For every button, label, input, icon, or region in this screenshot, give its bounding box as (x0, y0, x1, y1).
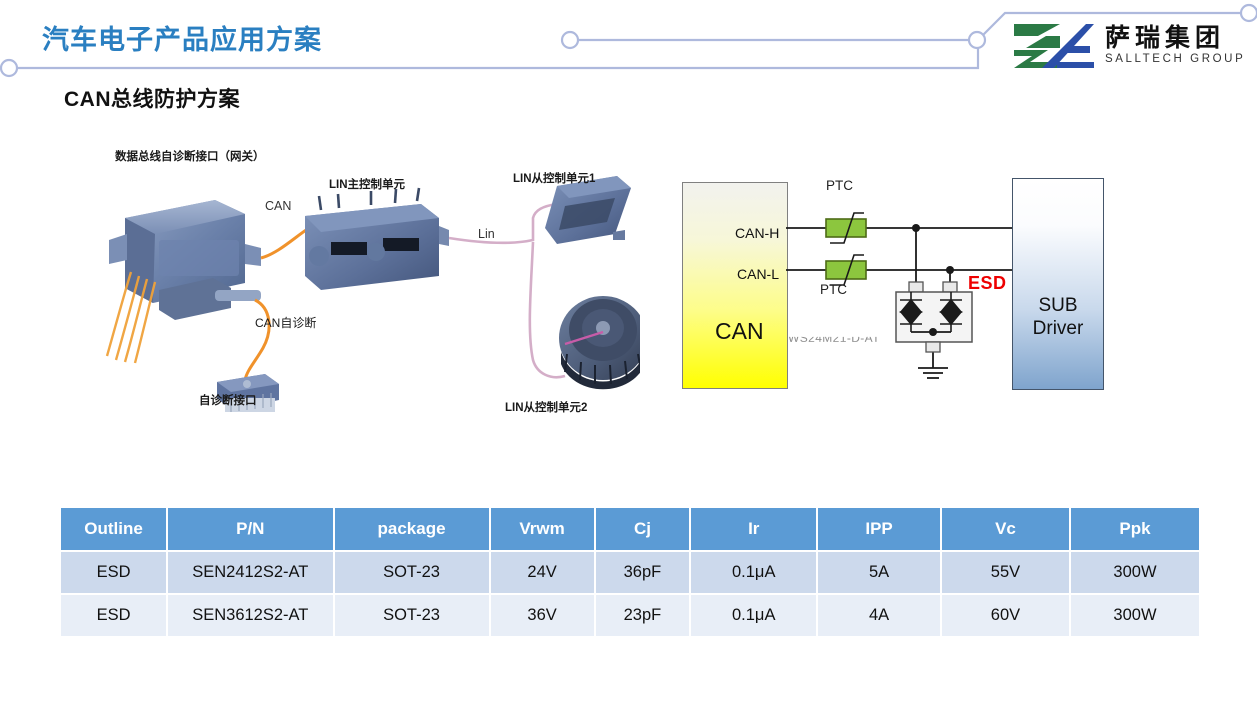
column-header-pn: P/N (167, 508, 333, 551)
table-header-row: Outline P/N package Vrwm Cj Ir IPP Vc Pp… (61, 508, 1199, 551)
logo-name-cn: 萨瑞集团 (1105, 26, 1245, 51)
deco-node-junction (969, 32, 985, 48)
cell-package: SOT-23 (334, 551, 490, 594)
column-header-outline: Outline (61, 508, 167, 551)
label-lin-master: LIN主控制单元 (329, 176, 405, 192)
label-can-diagnostic: CAN自诊断 (255, 314, 316, 331)
lin-slave1-graphic (545, 176, 631, 244)
cell-package: SOT-23 (334, 594, 490, 637)
label-can-wire: CAN (265, 199, 291, 213)
cell-ipp: 4A (817, 594, 941, 637)
ptc-top-symbol (826, 213, 866, 243)
sub-driver-line1: SUB (1038, 294, 1077, 318)
cell-vc: 60V (941, 594, 1070, 637)
sub-driver-block: SUB Driver (1012, 178, 1104, 390)
cell-ir: 0.1μA (690, 551, 817, 594)
table-row: ESD SEN2412S2-AT SOT-23 24V 36pF 0.1μA 5… (61, 551, 1199, 594)
cell-outline: ESD (61, 551, 167, 594)
label-lin-slave1: LIN从控制单元1 (513, 170, 595, 186)
logo-name-en: SALLTECH GROUP (1105, 54, 1245, 66)
node-can-l (946, 266, 954, 274)
can-diag-wire (245, 300, 269, 380)
cell-ppk: 300W (1070, 551, 1199, 594)
ptc-bottom-symbol (826, 255, 866, 285)
column-header-ipp: IPP (817, 508, 941, 551)
column-header-ppk: Ppk (1070, 508, 1199, 551)
cell-pn: SEN3612S2-AT (167, 594, 333, 637)
label-gateway: 数据总线自诊断接口（网关） (115, 148, 265, 164)
cell-ppk: 300W (1070, 594, 1199, 637)
lin-wire-slave2 (530, 242, 565, 377)
sub-driver-line2: Driver (1033, 317, 1084, 341)
cell-cj: 36pF (595, 551, 691, 594)
cell-vrwm: 36V (490, 594, 595, 637)
column-header-vrwm: Vrwm (490, 508, 595, 551)
table-row: ESD SEN3612S2-AT SOT-23 36V 23pF 0.1μA 4… (61, 594, 1199, 637)
salltech-logo-icon (1012, 22, 1096, 70)
label-lin-wire: Lin (478, 227, 495, 241)
node-can-h (912, 224, 920, 232)
esd-device-symbol (896, 282, 972, 352)
lin-master-graphic (305, 188, 449, 290)
specification-table: Outline P/N package Vrwm Cj Ir IPP Vc Pp… (61, 508, 1199, 638)
gateway-ecu-graphic (107, 200, 261, 363)
ptc-top-label: PTC (826, 178, 853, 193)
label-lin-slave2: LIN从控制单元2 (505, 399, 587, 415)
vehicle-network-diagram: 数据总线自诊断接口（网关） CAN CAN自诊断 自诊断接口 LIN主控制单元 … (95, 148, 640, 428)
column-header-ir: Ir (690, 508, 817, 551)
cell-cj: 23pF (595, 594, 691, 637)
lin-wire-slave1 (449, 204, 557, 243)
cell-ipp: 5A (817, 551, 941, 594)
lin-slave2-graphic (559, 296, 640, 389)
cell-vrwm: 24V (490, 551, 595, 594)
deco-node-mid (562, 32, 578, 48)
cell-vc: 55V (941, 551, 1070, 594)
ptc-bottom-label: PTC (820, 282, 847, 297)
page-title: 汽车电子产品应用方案 (42, 18, 322, 57)
deco-node-left (1, 60, 17, 76)
cell-pn: SEN2412S2-AT (167, 551, 333, 594)
cell-ir: 0.1μA (690, 594, 817, 637)
label-diagnostic-port: 自诊断接口 (199, 392, 257, 408)
brand-logo: 萨瑞集团 SALLTECH GROUP (1012, 18, 1250, 74)
section-subtitle: CAN总线防护方案 (64, 83, 240, 113)
esd-label: ESD (968, 273, 1007, 294)
column-header-vc: Vc (941, 508, 1070, 551)
slide-root: 汽车电子产品应用方案 萨瑞集团 SALLTECH GROUP CAN总线防护方案 (0, 0, 1257, 706)
column-header-cj: Cj (595, 508, 691, 551)
can-protection-schematic: CAN-H CAN-L CAN (668, 160, 1158, 410)
cell-outline: ESD (61, 594, 167, 637)
column-header-package: package (334, 508, 490, 551)
